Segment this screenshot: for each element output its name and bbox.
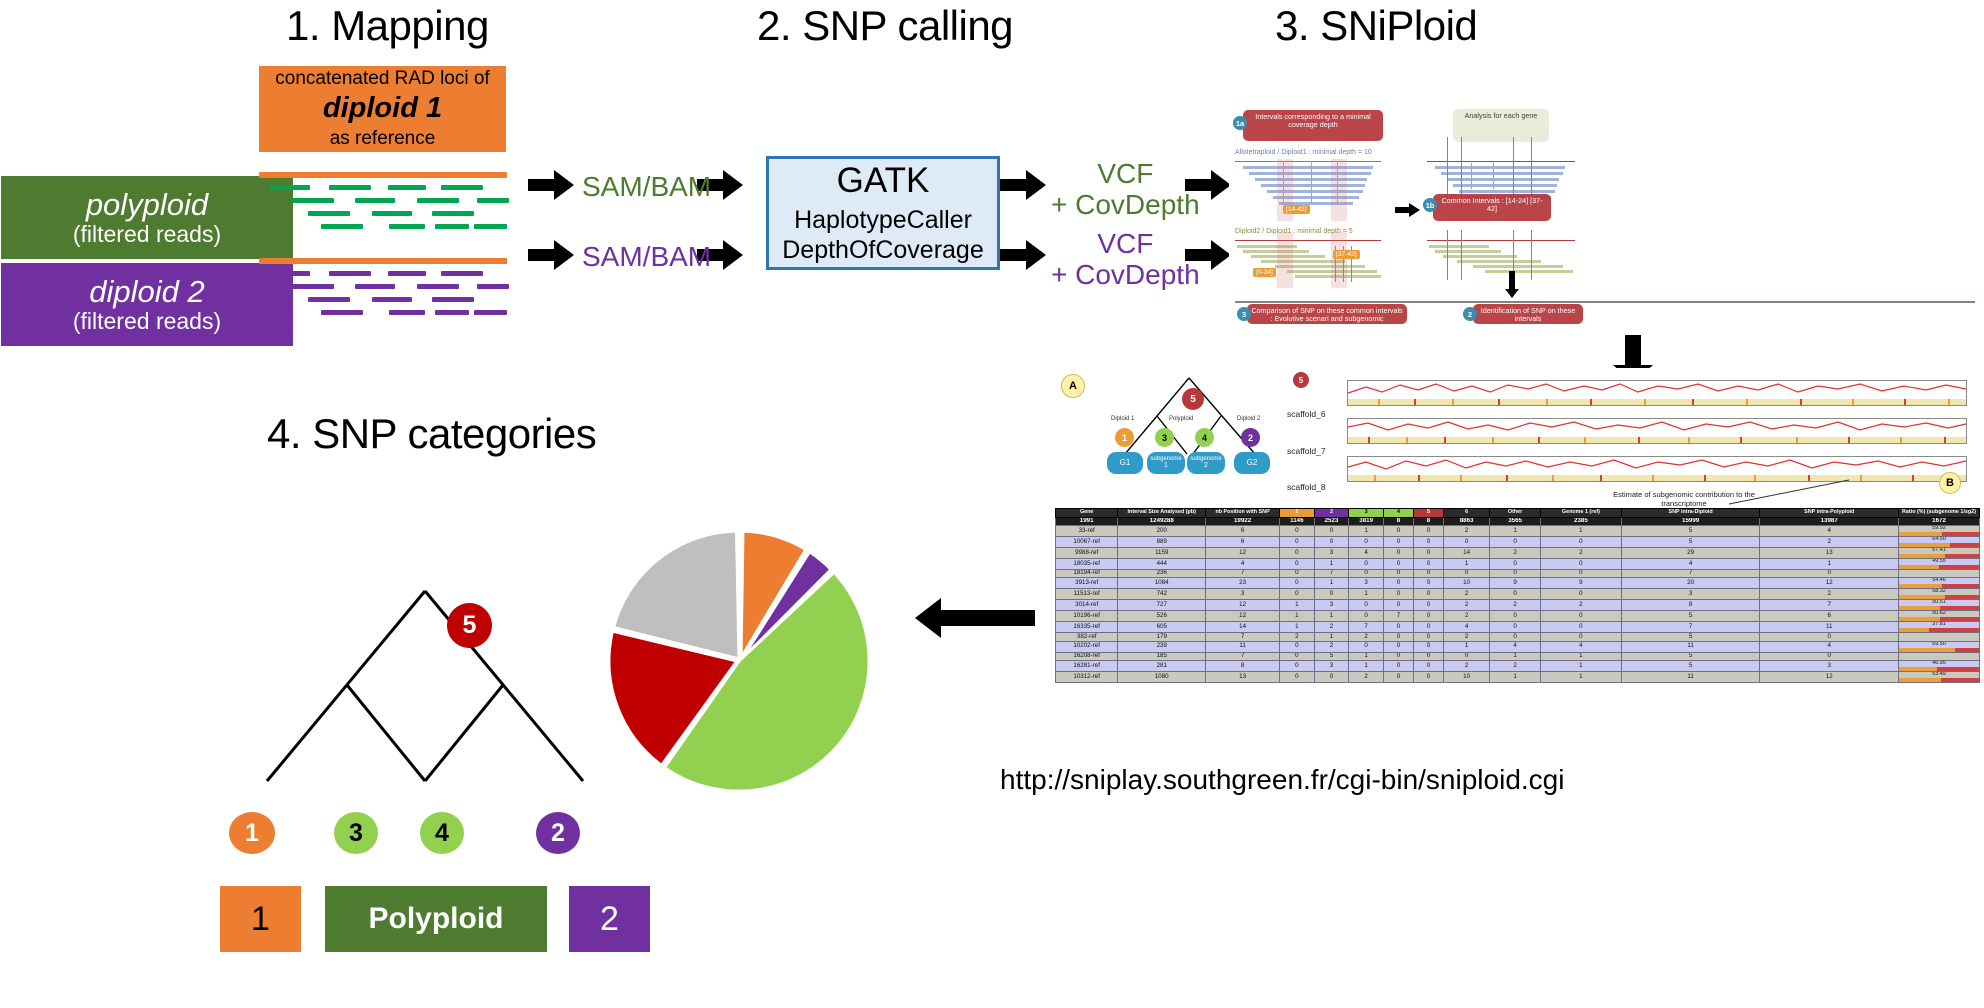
cell: 2 [1443,633,1489,642]
cell: 13987 [1760,517,1899,526]
coverage-stack-right-2 [1427,240,1575,296]
cell: 15999 [1621,517,1760,526]
vcf-line1: VCF [1051,228,1200,259]
cell: 382-ref [1056,633,1118,642]
read-segment [292,198,334,203]
cell: 0 [1280,578,1315,589]
cell: 1 [1443,558,1489,569]
table-row[interactable]: 382-ref17972120020050 [1056,633,1980,642]
cell: 727 [1118,600,1206,611]
sample-sub-polyploid: (filtered reads) [73,222,221,247]
cell: 1 [1540,671,1621,682]
read-segment [435,310,469,315]
cell: 1080 [1118,671,1206,682]
interval-shade [1277,232,1293,288]
cell: 1 [1490,652,1541,661]
cell: 0 [1383,558,1413,569]
badge-1a: 1a [1233,116,1247,130]
cell: 0 [1540,611,1621,622]
cell: 0 [1280,548,1315,559]
cell: 1146 [1280,517,1315,526]
cell: 889 [1118,537,1206,548]
cell: 12 [1206,600,1280,611]
tree-box-g2-label: G2 [1247,459,1258,467]
cell: 0 [1443,537,1489,548]
sniploid-url[interactable]: http://sniplay.southgreen.fr/cgi-bin/sni… [1000,764,1564,796]
cell: 8 [1383,517,1413,526]
cell: 0 [1383,600,1413,611]
cell: 7 [1349,622,1384,633]
coverage-bar [1485,270,1573,273]
table-row[interactable]: 3014-ref72712130002228750.51 [1056,600,1980,611]
cell: 236 [1118,569,1206,578]
snp-marker [1283,161,1284,203]
table-row[interactable]: 16208-ref18570510001150 [1056,652,1980,661]
tree-node-5: 5 [1182,388,1204,410]
cell: 0 [1280,589,1315,600]
step-title-snp-categories: 4. SNP categories [267,410,596,458]
cell: 2 [1760,537,1899,548]
cell: 0 [1383,578,1413,589]
cell: 18194-ref [1056,569,1118,578]
th-genome1: Genome 1 (ref) [1540,509,1621,518]
gatk-box: GATK HaplotypeCaller DepthOfCoverage [766,156,1000,270]
cell: 2 [1280,633,1315,642]
reference-line-polyploid [259,172,507,178]
cell: 526 [1118,611,1206,622]
tree-node-circle-3: 3 [334,812,378,854]
cell: 3 [1760,661,1899,672]
cell: 6 [1206,526,1280,537]
arrow-left-icon-large [913,596,1035,640]
callout-analysis-for-each-gene: Analysis for each gene [1453,109,1549,142]
subgenome-tree: 5 1 3 4 2 Diploid 1 Polyploid Diploid 2 … [1089,376,1289,486]
cell: 7 [1621,569,1760,578]
cell: 742 [1118,589,1206,600]
sample-name-diploid2: diploid 2 [89,275,204,308]
diagram-canvas: 1. Mapping 2. SNP calling 3. SNiPloid 4.… [0,0,1984,1008]
cell: 0 [1383,661,1413,672]
cell: 0 [1280,526,1315,537]
coverage-bar [1249,172,1371,175]
cell: 2385 [1540,517,1621,526]
cell: 0 [1314,671,1349,682]
cell: 0 [1280,652,1315,661]
table-row[interactable]: 10196-ref52612110702005650.62 [1056,611,1980,622]
th-cat-1: 1 [1280,509,1315,518]
read-segment [388,185,426,190]
coverage-bar [1473,265,1563,268]
table-row[interactable]: 10312-ref108013002001011111253.49 [1056,671,1980,682]
cell: 0 [1383,548,1413,559]
tree-node-3: 3 [1155,428,1174,447]
cell: 7 [1760,600,1899,611]
interval-tag-1: [14-42] [1283,205,1310,214]
leaf-box-diploid2: 2 [569,886,650,952]
cell: 0 [1383,589,1413,600]
cell: 0 [1413,558,1443,569]
table-head: Gene Interval Size Analysed (pb) nb Posi… [1056,509,1980,518]
interval-boundary [1461,230,1462,280]
cell: 1 [1280,600,1315,611]
read-segment [329,271,371,276]
ratio-cell: 46.95 [1899,661,1980,672]
coverage-bar [1443,255,1517,258]
table-row[interactable]: 10067-ref8896000000005264.50 [1056,537,1980,548]
callout-3: Comparison of SNP on these common interv… [1247,304,1407,324]
cell: 3 [1621,589,1760,600]
table-row[interactable]: 16335-ref605141270040071137.81 [1056,622,1980,633]
table-row[interactable]: 10202-ref239110200014411469.50 [1056,641,1980,652]
cell: 0 [1540,558,1621,569]
ratio-cell [1899,569,1980,578]
scaffold-track-7 [1347,418,1967,444]
cell: 6 [1206,537,1280,548]
read-segment [417,198,459,203]
cell: 5 [1621,652,1760,661]
cell: 2 [1349,671,1384,682]
tree-node-2: 2 [1241,428,1260,447]
cell: 3014-ref [1056,600,1118,611]
cell: 185 [1118,652,1206,661]
cell: 0 [1490,558,1541,569]
cell: 2 [1490,600,1541,611]
cell: 19922 [1206,517,1280,526]
step-title-snp-calling: 2. SNP calling [757,2,1013,50]
cell: 0 [1383,537,1413,548]
cell: 5 [1621,611,1760,622]
label-a-circle: A [1061,374,1085,398]
cell: 0 [1540,537,1621,548]
cell: 10312-ref [1056,671,1118,682]
cell: 8 [1413,517,1443,526]
ratio-cell: 59.92 [1899,526,1980,537]
cell: 0 [1383,569,1413,578]
cell: 0 [1280,641,1315,652]
coverage-stack-left: [14-42] [1235,161,1381,223]
cell: 12 [1760,578,1899,589]
arrow-right-icon [528,168,576,202]
sample-name-polyploid: polyploid [86,188,208,221]
cell: 2 [1443,526,1489,537]
coverage-bar [1429,245,1489,248]
ratio-cell: 58.32 [1899,589,1980,600]
th-interval-size: Interval Size Analysed (pb) [1118,509,1206,518]
cell: 1 [1314,558,1349,569]
cell: 2 [1540,548,1621,559]
cell: 0 [1413,589,1443,600]
ratio-cell: 50.62 [1899,611,1980,622]
depth-label-allotetraploid: Allotetraploid / Diploid1 : minimal dept… [1235,149,1372,156]
ratio-bars [1899,628,1979,632]
ratio-bars [1899,584,1979,588]
cell: 0 [1349,569,1384,578]
sample-box-polyploid: polyploid (filtered reads) [1,176,293,259]
leader-line [1729,478,1859,508]
cell: 0 [1540,622,1621,633]
ratio-bars [1899,532,1979,536]
table-row[interactable]: 9988-ref115912034001422291357.41 [1056,548,1980,559]
reference-line1: concatenated RAD loci of [275,68,489,90]
th-nb-position: nb Position with SNP [1206,509,1280,518]
cell: 0 [1490,611,1541,622]
cell: 9 [1490,578,1541,589]
axis-line [1235,161,1381,162]
tree-top-label-polyploid: Polyploid [1169,416,1193,422]
table-row[interactable]: 11513-ref7423001002003258.32 [1056,589,1980,600]
label-sam-bam-polyploid: SAM/BAM [582,171,711,202]
gatk-title: GATK [837,161,930,201]
cell: 8 [1621,600,1760,611]
result-panel: A 5 1 3 4 2 Diploid 1 Polyploid Diploid … [1029,368,1984,748]
read-segment [388,271,426,276]
cell: 3 [1206,589,1280,600]
callout-1b: Common Intervals : [14-24] [37-42] [1433,194,1551,221]
cell: 8863 [1443,517,1489,526]
cell: 4 [1349,548,1384,559]
cell: 5 [1621,633,1760,642]
cell: 20 [1621,578,1760,589]
cell: 0 [1490,633,1541,642]
cell: 18035-ref [1056,558,1118,569]
cell: 2 [1314,641,1349,652]
cell: 2 [1349,633,1384,642]
cell: 11 [1760,622,1899,633]
cell: 0 [1349,537,1384,548]
read-segment [321,224,363,229]
cell: 2 [1490,548,1541,559]
table-row[interactable]: 16281-ref2818031002215346.95 [1056,661,1980,672]
cell: 7 [1206,633,1280,642]
arrow-right-icon [1000,238,1048,272]
cell: 10 [1443,578,1489,589]
cell: 29 [1621,548,1760,559]
cell: 1 [1540,661,1621,672]
coverage-bar [1457,260,1541,263]
cell: 2 [1443,600,1489,611]
cell: 9988-ref [1056,548,1118,559]
cell: 4 [1490,641,1541,652]
axis-line [1235,240,1381,241]
cell: 0 [1490,589,1541,600]
cell: 0 [1540,633,1621,642]
cell: 5 [1621,537,1760,548]
cell: 2523 [1314,517,1349,526]
cell: 0 [1413,526,1443,537]
tree-node-circle-5: 5 [447,603,492,648]
ratio-cell [1899,652,1980,661]
ratio-cell: 50.51 [1899,600,1980,611]
read-segment [432,297,474,302]
tree-box-subgenome1: subgenome 1 [1147,452,1185,474]
tree-node-1: 1 [1115,428,1134,447]
cell: 0 [1280,661,1315,672]
cell: 4 [1621,558,1760,569]
th-snp-intra-polyploid: SNP intra-Polyploid [1760,509,1899,518]
tree-top-label-diploid2: Diploid 2 [1237,416,1260,422]
tree-box-subgenome2: subgenome 2 [1187,452,1225,474]
tree-box-g2: G2 [1234,452,1270,474]
reference-line-diploid2 [259,258,507,264]
cell: 5 [1314,652,1349,661]
cell: 3 [1314,548,1349,559]
cell: 1 [1540,526,1621,537]
cell: 2 [1443,589,1489,600]
read-segment [270,185,310,190]
th-cat-6: 6 [1443,509,1489,518]
axis-line [1427,240,1575,241]
cell: 0 [1349,558,1384,569]
cell: 1 [1280,622,1315,633]
tree-node-circle-2: 2 [536,812,580,854]
reference-line3: as reference [330,128,436,150]
label-b-circle: B [1939,472,1961,494]
ratio-cell: 53.49 [1899,671,1980,682]
cell: 11 [1206,641,1280,652]
ratio-bars [1899,678,1979,682]
ratio-cell: 49.55 [1899,558,1980,569]
cell: 4 [1206,558,1280,569]
cell: 0 [1314,537,1349,548]
table-row[interactable]: 18035-ref4444010001004149.55 [1056,558,1980,569]
reference-line2: diploid 1 [323,91,442,125]
cell: 1 [1490,671,1541,682]
read-segment [329,185,371,190]
read-segment [355,198,395,203]
tree-box-sg1-sub: 1 [1164,462,1168,469]
cell: 0 [1413,548,1443,559]
gatk-tool-depthofcoverage: DepthOfCoverage [782,235,984,265]
read-segment [474,224,507,229]
cell: 6 [1760,611,1899,622]
cell: 0 [1349,611,1384,622]
cell: 0 [1314,526,1349,537]
cell: 2 [1443,611,1489,622]
badge-2: 2 [1463,307,1477,321]
ratio-bars [1899,565,1979,569]
cell: 0 [1760,633,1899,642]
cell: 1 [1314,633,1349,642]
th-ratio: Ratio (%) (subgenome 1/sg2) [1899,509,1980,518]
table-row[interactable]: 18194-ref23670700000070 [1056,569,1980,578]
cell: 23 [1206,578,1280,589]
read-segment [477,198,509,203]
cell: 4 [1443,622,1489,633]
ratio-bars [1899,617,1979,621]
vcf-line2: + CovDepth [1051,259,1200,290]
snp-marker [1471,163,1472,189]
arrow-right-icon [1395,203,1421,217]
read-segment [372,211,412,216]
cell: 0 [1383,633,1413,642]
cell: 4 [1760,641,1899,652]
cell: 0 [1760,652,1899,661]
cell: 3913-ref [1056,578,1118,589]
cell: 8 [1206,661,1280,672]
coverage-bar [1459,190,1555,193]
ratio-bars [1899,554,1979,558]
table-row[interactable]: 3913-ref108423013001099201254.46 [1056,578,1980,589]
leaf-box-diploid1: 1 [220,886,301,952]
vcf-line2: + CovDepth [1051,189,1200,220]
table-body: 1991 1249288 19922 1146 2523 3819 8 8 88… [1056,517,1980,682]
snp-category-tree [225,585,625,785]
cell: 7 [1314,569,1349,578]
badge-1b: 1b [1423,198,1437,212]
cell: 0 [1413,611,1443,622]
cell: 0 [1280,569,1315,578]
reference-box: concatenated RAD loci of diploid 1 as re… [259,66,506,152]
read-segment [477,284,509,289]
cell: 3 [1349,578,1384,589]
tree-box-sg2-sub: 2 [1204,462,1208,469]
cell: 16335-ref [1056,622,1118,633]
cell: 0 [1540,589,1621,600]
cell: 605 [1118,622,1206,633]
cell: 1249288 [1118,517,1206,526]
cell: 12 [1206,611,1280,622]
cell: 0 [1413,578,1443,589]
cell: 0 [1280,537,1315,548]
ratio-cell: 64.50 [1899,537,1980,548]
read-segment [432,211,474,216]
cell: 1 [1349,652,1384,661]
cell: 0 [1413,652,1443,661]
cell: 1 [1349,661,1384,672]
ratio-bars [1899,606,1979,610]
ratio-bars [1899,648,1979,652]
scaffold-label-7: scaffold_7 [1287,446,1326,456]
read-segment [308,297,350,302]
cell: 0 [1413,671,1443,682]
cell: 0 [1383,641,1413,652]
read-segment [435,224,469,229]
coverage-bar [1243,250,1309,253]
interval-shade [1331,159,1347,221]
read-segment [321,310,363,315]
interval-shade [1331,232,1347,288]
cell: 0 [1349,641,1384,652]
cell: 1 [1540,652,1621,661]
cell: 0 [1490,569,1541,578]
read-segment [372,297,412,302]
sample-sub-diploid2: (filtered reads) [73,309,221,334]
cell: 1 [1349,589,1384,600]
ratio-bars [1899,667,1979,671]
arrow-right-icon [1000,168,1048,202]
interval-tag-3: [0-24] [1253,268,1276,277]
th-cat-5: 5 [1413,509,1443,518]
cell: 10067-ref [1056,537,1118,548]
cell: 9 [1540,578,1621,589]
cell: 0 [1760,569,1899,578]
ratio-cell: 57.41 [1899,548,1980,559]
sample-box-diploid2: diploid 2 (filtered reads) [1,263,293,346]
sniploid-results-table-wrap: Gene Interval Size Analysed (pb) nb Posi… [1055,508,1980,683]
cell: 7 [1206,652,1280,661]
interval-tag-2: [37-42] [1333,250,1360,259]
cell: 7 [1621,622,1760,633]
cell: 239 [1118,641,1206,652]
cell: 0 [1280,671,1315,682]
table-row[interactable]: 33-ref2006001002115459.92 [1056,526,1980,537]
cell: 0 [1490,537,1541,548]
scaffold-label-8: scaffold_8 [1287,482,1326,492]
sniploid-schema-panel: 1a Intervals corresponding to a minimal … [1229,95,1984,325]
cell: 1672 [1899,517,1980,526]
read-segment [389,224,425,229]
sniploid-results-table: Gene Interval Size Analysed (pb) nb Posi… [1055,508,1980,683]
